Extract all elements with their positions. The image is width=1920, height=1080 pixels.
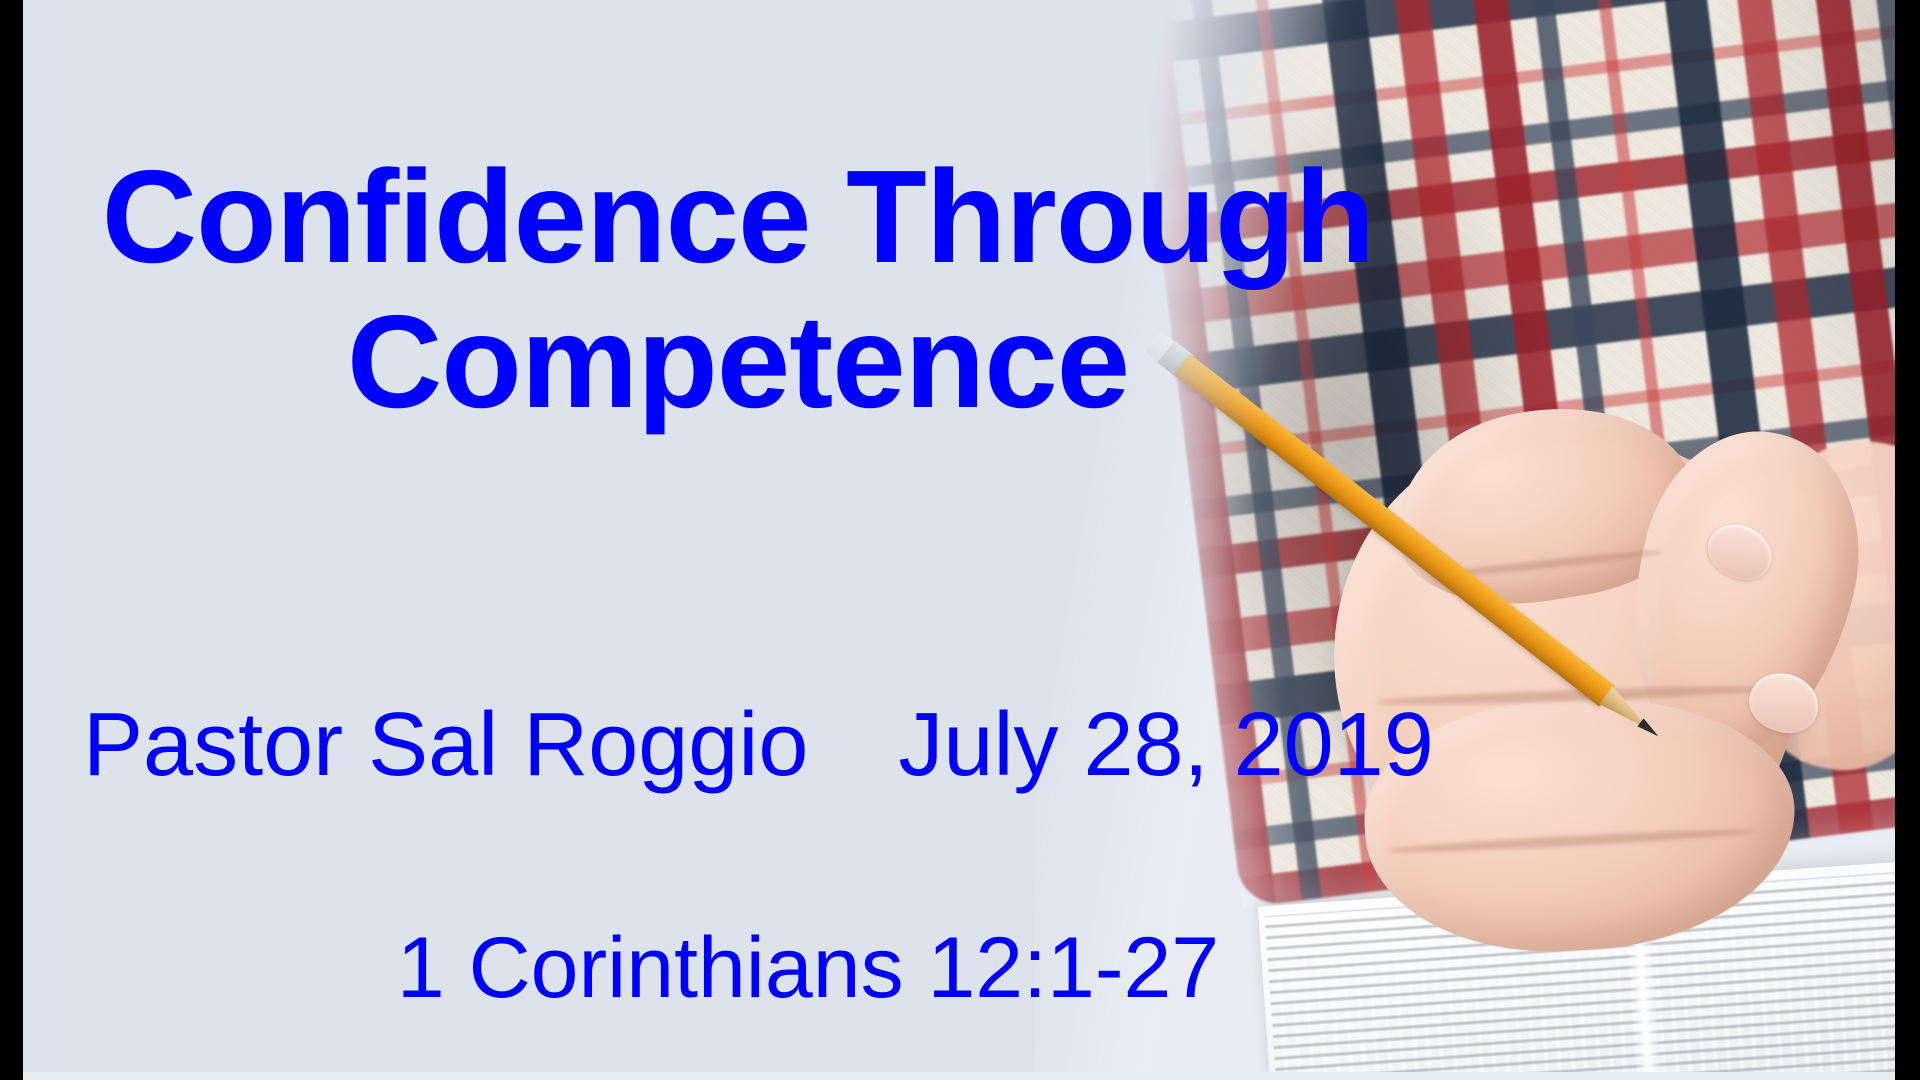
bottom-edge-strip xyxy=(23,1072,1895,1080)
sermon-title-slide: Confidence Through Competence Pastor Sal… xyxy=(0,0,1920,1080)
slide-title-line-2: Competence xyxy=(23,295,1453,430)
scripture-reference: 1 Corinthians 12:1-27 xyxy=(23,925,1593,1011)
sermon-date: July 28, 2019 xyxy=(898,700,1433,790)
slide-title-line-1: Confidence Through xyxy=(23,150,1453,285)
slide-canvas: Confidence Through Competence Pastor Sal… xyxy=(23,0,1895,1080)
byline-row: Pastor Sal Roggio July 28, 2019 xyxy=(83,700,1423,790)
speaker-name: Pastor Sal Roggio xyxy=(83,700,808,790)
